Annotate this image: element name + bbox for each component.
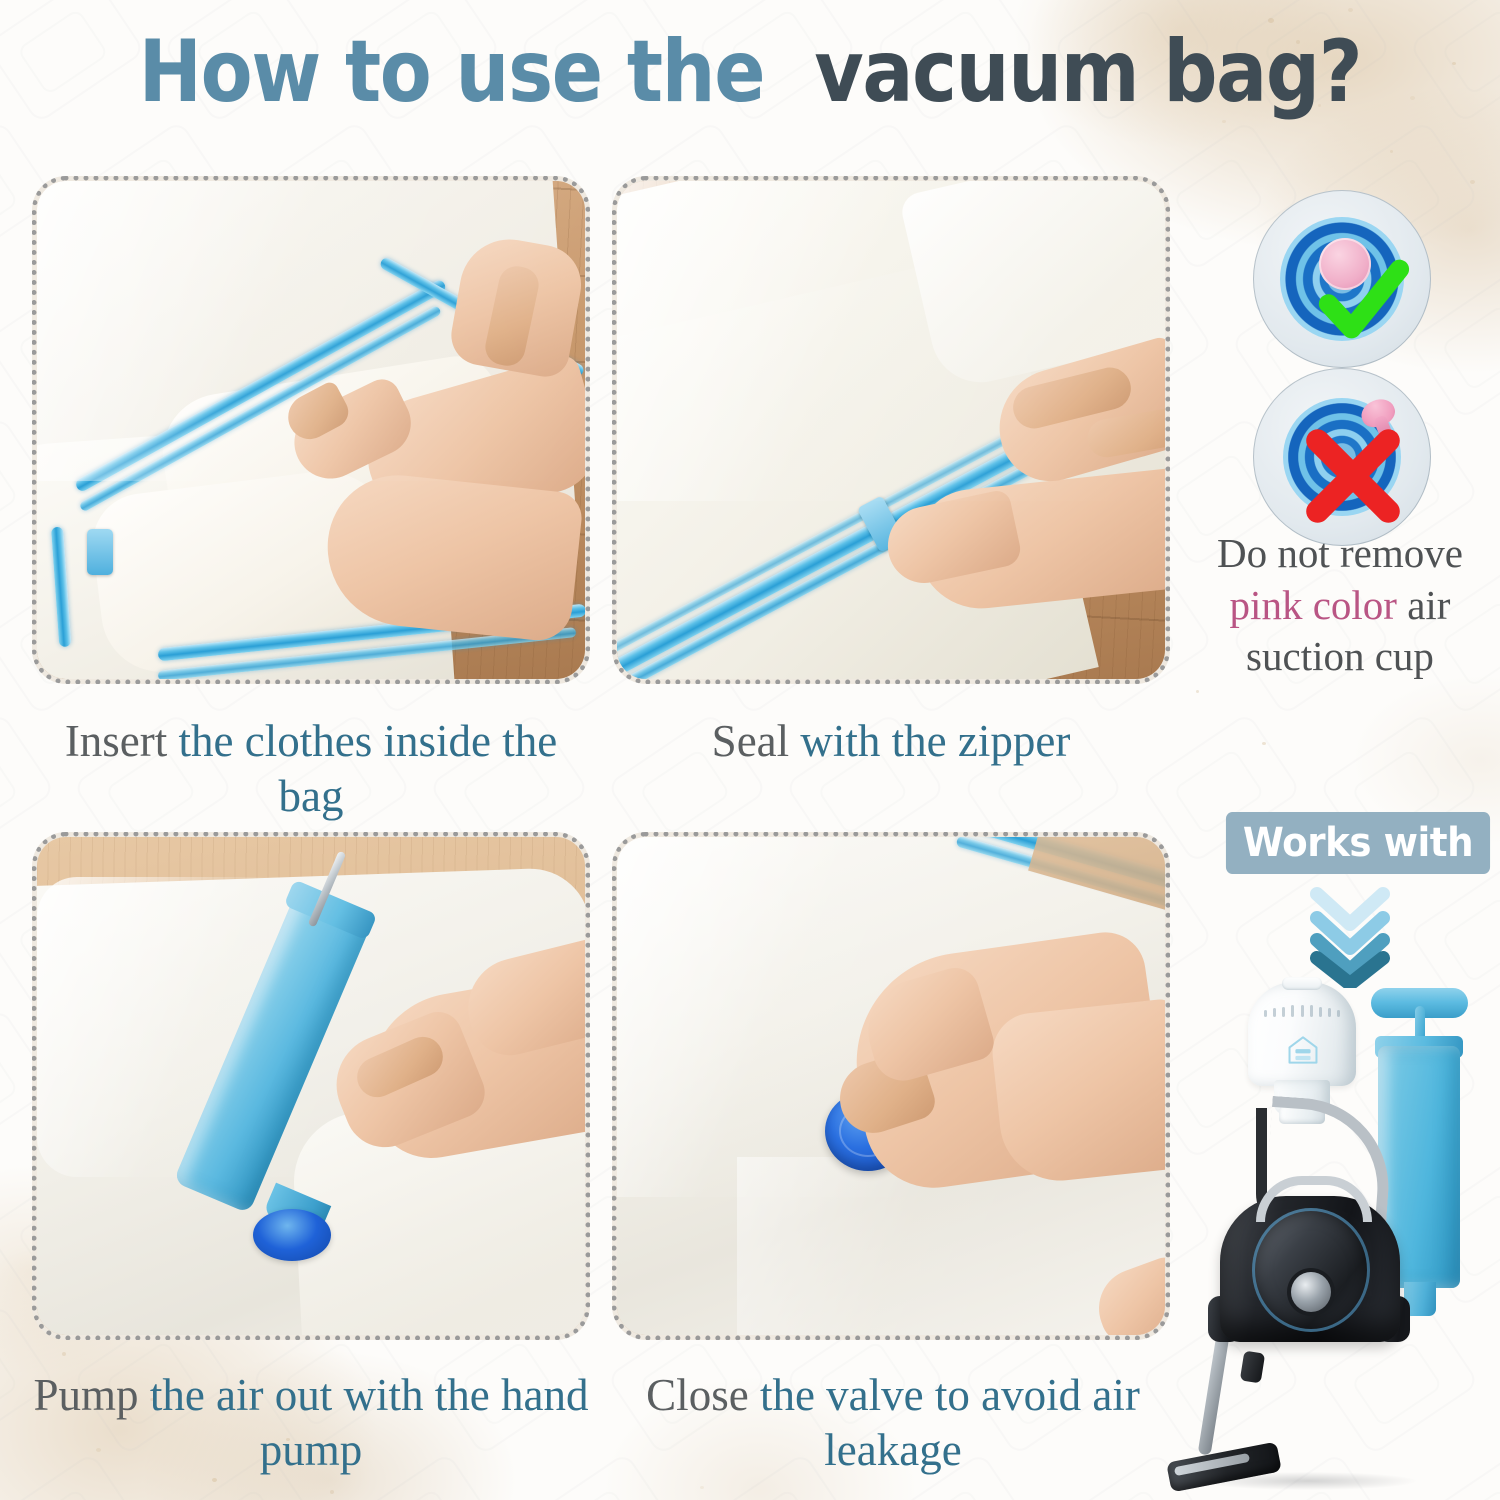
step-4-photo xyxy=(612,832,1170,1340)
step-1-photo xyxy=(32,176,590,684)
step-3-caption-lead: Pump xyxy=(34,1370,139,1420)
step-2-caption-rest: with the zipper xyxy=(800,716,1070,766)
step-4-caption-rest: the valve to avoid air leakage xyxy=(760,1370,1140,1475)
step-2-caption: Seal with the zipper xyxy=(612,714,1170,769)
brand-logo-icon xyxy=(1286,1034,1320,1066)
works-with-badge: Works with xyxy=(1226,812,1490,874)
infographic-page: How to use the vacuum bag? xyxy=(0,0,1500,1500)
suction-cup-warning: Do not remove pink color air suction cup xyxy=(1180,528,1500,683)
warning-line-1: Do not remove xyxy=(1217,530,1463,576)
down-arrows-icon xyxy=(1295,884,1405,988)
step-2-photo xyxy=(612,176,1170,684)
vacuum-cleaner-illustration xyxy=(1160,1100,1440,1500)
works-with-label: Works with xyxy=(1243,820,1473,866)
step-3-photo xyxy=(32,832,590,1340)
title-part-blue: How to use the xyxy=(139,22,765,122)
step-4-caption-lead: Close xyxy=(646,1370,749,1420)
valve-correct-badge xyxy=(1253,190,1431,368)
warning-line-3: suction cup xyxy=(1246,633,1434,679)
step-3-caption: Pump the air out with the hand pump xyxy=(20,1368,602,1478)
step-3-caption-rest: the air out with the hand pump xyxy=(150,1370,589,1475)
check-mark-icon xyxy=(1315,252,1411,348)
cross-mark-icon xyxy=(1301,424,1405,528)
step-2-caption-lead: Seal xyxy=(712,716,789,766)
valve-incorrect-badge xyxy=(1253,368,1431,546)
title-part-dark: vacuum bag? xyxy=(814,22,1361,122)
warning-pink-color: pink color xyxy=(1230,582,1397,628)
zipper-slider xyxy=(87,529,113,575)
step-1-caption: Insert the clothes inside the bag xyxy=(32,714,590,824)
step-1-caption-lead: Insert xyxy=(65,716,167,766)
step-1-caption-rest: the clothes inside the bag xyxy=(179,716,558,821)
step-4-caption: Close the valve to avoid air leakage xyxy=(620,1368,1166,1478)
warning-line-2-rest: air xyxy=(1397,582,1451,628)
page-title: How to use the vacuum bag? xyxy=(90,24,1410,120)
